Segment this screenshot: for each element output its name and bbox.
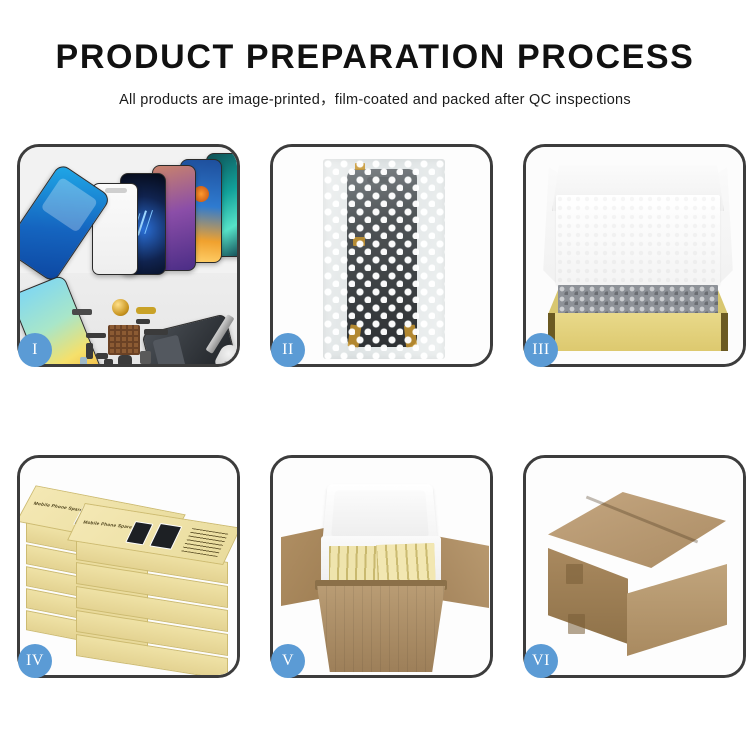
screw-part bbox=[224, 361, 236, 364]
flex-cable-gold bbox=[136, 307, 156, 314]
process-step-panel-1: I bbox=[17, 144, 240, 367]
gold-component-icon bbox=[112, 299, 129, 316]
step-badge-2: II bbox=[271, 333, 305, 367]
carton-right-face bbox=[627, 564, 727, 656]
process-step-grid: I II bbox=[17, 144, 746, 678]
flex-cable-a bbox=[86, 333, 106, 338]
sealed-carton-icon bbox=[526, 458, 743, 675]
carton-top-face bbox=[548, 492, 726, 568]
bubble-wrap-bag bbox=[323, 159, 445, 359]
step-badge-3: III bbox=[524, 333, 558, 367]
camera-part bbox=[104, 359, 113, 364]
bubble-highlight-texture bbox=[323, 159, 445, 359]
box-front-panel bbox=[548, 313, 728, 351]
process-step-panel-5: V bbox=[270, 455, 493, 678]
page-title: PRODUCT PREPARATION PROCESS bbox=[0, 40, 750, 74]
connector-part bbox=[140, 351, 151, 364]
step-badge-1: I bbox=[18, 333, 52, 367]
poster-header: PRODUCT PREPARATION PROCESS All products… bbox=[0, 0, 750, 109]
carton-corrugation bbox=[317, 586, 445, 672]
flex-cable-b bbox=[86, 343, 93, 359]
bubble-wrap-icon bbox=[273, 147, 490, 364]
carton-body bbox=[317, 586, 445, 672]
circuit-board-icon bbox=[108, 325, 140, 355]
page-subtitle: All products are image-printed，film-coat… bbox=[0, 88, 750, 109]
step-badge-6: VI bbox=[524, 644, 558, 678]
process-step-panel-6: VI bbox=[523, 455, 746, 678]
phone-parts-icon bbox=[20, 147, 237, 364]
process-step-panel-2: II bbox=[270, 144, 493, 367]
speaker-part bbox=[118, 355, 132, 364]
carton-tape-patch-upper bbox=[566, 564, 583, 584]
open-inner-box-icon bbox=[526, 147, 743, 364]
process-step-panel-3: III bbox=[523, 144, 746, 367]
step-badge-4: IV bbox=[18, 644, 52, 678]
bubble-wrap-insert bbox=[558, 285, 718, 315]
stacked-boxes-icon: Mobile Phone Spare Parts Mobile Phon bbox=[20, 458, 237, 675]
foam-sheet bbox=[556, 195, 720, 285]
step-badge-5: V bbox=[271, 644, 305, 678]
flex-cable-small bbox=[136, 319, 150, 324]
poster-canvas: PRODUCT PREPARATION PROCESS All products… bbox=[0, 0, 750, 750]
carton-tape-patch-lower bbox=[568, 614, 585, 634]
carton-left-face bbox=[548, 548, 628, 644]
packed-carton-icon bbox=[273, 458, 490, 675]
sensor-part bbox=[80, 357, 87, 364]
box-stack: Mobile Phone Spare Parts Mobile Phon bbox=[20, 458, 237, 675]
flex-cable-d bbox=[144, 329, 168, 335]
process-step-panel-4: Mobile Phone Spare Parts Mobile Phon bbox=[17, 455, 240, 678]
chip-part bbox=[72, 309, 92, 315]
